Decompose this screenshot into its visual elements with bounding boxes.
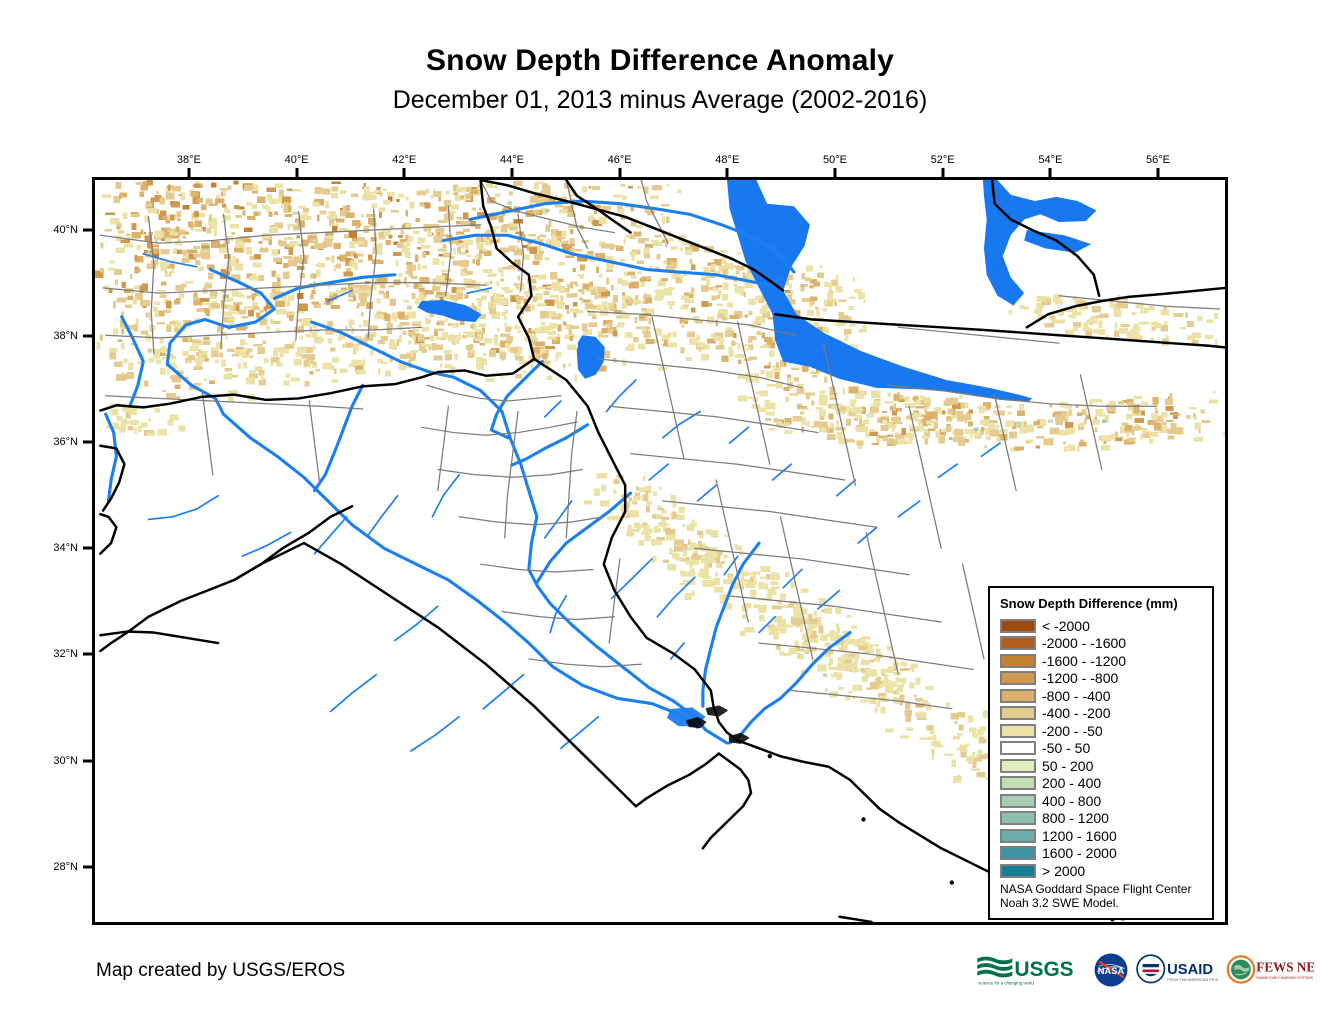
anomaly-cell: [1115, 431, 1118, 437]
anomaly-cell: [501, 377, 503, 379]
anomaly-cell: [1065, 422, 1074, 428]
anomaly-cell: [516, 305, 518, 309]
anomaly-cell: [326, 259, 334, 262]
anomaly-cell: [586, 304, 593, 309]
anomaly-cell: [754, 581, 757, 586]
anomaly-cell: [121, 343, 124, 350]
anomaly-cell: [166, 325, 171, 332]
anomaly-cell: [118, 231, 124, 234]
svg-text:science for a changing world: science for a changing world: [978, 980, 1034, 985]
anomaly-cell: [768, 362, 771, 366]
anomaly-cell: [620, 184, 625, 187]
inland-lake: [526, 603, 537, 616]
anomaly-cell: [672, 512, 676, 519]
anomaly-cell: [493, 336, 497, 342]
anomaly-cell: [507, 349, 510, 352]
anomaly-cell: [643, 248, 649, 255]
anomaly-cell: [208, 273, 214, 280]
anomaly-cell: [476, 363, 484, 369]
anomaly-cell: [903, 678, 907, 684]
anomaly-cell: [966, 744, 970, 746]
anomaly-cell: [582, 283, 589, 289]
anomaly-cell: [559, 262, 565, 266]
anomaly-cell: [154, 302, 159, 305]
anomaly-cell: [1172, 413, 1180, 415]
anomaly-cell: [209, 381, 215, 384]
anomaly-cell: [780, 593, 786, 599]
anomaly-cell: [745, 314, 748, 317]
anomaly-cell: [415, 255, 419, 262]
anomaly-cell: [284, 237, 293, 240]
anomaly-cell: [244, 306, 253, 309]
anomaly-cell: [116, 374, 125, 381]
anomaly-cell: [167, 369, 169, 374]
anomaly-cell: [128, 295, 133, 299]
anomaly-cell: [720, 600, 724, 603]
anomaly-cell: [906, 727, 913, 731]
legend-label: > 2000: [1042, 864, 1085, 878]
anomaly-cell: [225, 368, 232, 372]
anomaly-cell: [355, 223, 362, 225]
anomaly-cell: [1043, 439, 1049, 446]
anomaly-cell: [689, 564, 693, 568]
legend-swatch: [1000, 864, 1036, 878]
anomaly-cell: [851, 625, 856, 628]
anomaly-cell: [736, 252, 741, 254]
anomaly-cell: [958, 712, 965, 717]
anomaly-cell: [795, 612, 799, 618]
anomaly-cell: [661, 213, 664, 216]
anomaly-cell: [876, 438, 881, 443]
anomaly-cell: [193, 383, 201, 386]
anomaly-cell: [551, 314, 558, 316]
anomaly-cell: [949, 398, 958, 405]
anomaly-cell: [978, 749, 983, 755]
anomaly-cell: [662, 217, 665, 224]
legend-row: -800 - -400: [1000, 687, 1206, 705]
anomaly-cell: [630, 510, 639, 517]
anomaly-cell: [658, 367, 667, 371]
anomaly-cell: [110, 409, 118, 416]
anomaly-cell: [541, 322, 545, 326]
anomaly-cell: [721, 355, 728, 362]
anomaly-cell: [815, 306, 819, 308]
anomaly-cell: [628, 283, 637, 289]
anomaly-cell: [686, 557, 689, 561]
anomaly-cell: [133, 324, 138, 331]
anomaly-cell: [178, 194, 181, 196]
anomaly-cell: [957, 774, 960, 780]
anomaly-cell: [927, 725, 934, 730]
anomaly-cell: [827, 434, 835, 440]
anomaly-cell: [820, 266, 823, 268]
legend-credit-line2: Noah 3.2 SWE Model.: [1000, 896, 1191, 910]
anomaly-cell: [963, 414, 972, 420]
anomaly-cell: [916, 406, 926, 408]
anomaly-cell: [948, 408, 953, 414]
anomaly-cell: [1111, 433, 1115, 439]
anomaly-cell: [769, 351, 775, 358]
anomaly-cell: [443, 350, 451, 354]
anomaly-cell: [110, 353, 116, 360]
anomaly-cell: [884, 401, 893, 404]
anomaly-cell: [1000, 429, 1007, 433]
legend-label: 200 - 400: [1042, 776, 1101, 790]
anomaly-cell: [816, 407, 823, 410]
anomaly-cell: [1141, 402, 1148, 405]
anomaly-cell: [532, 304, 535, 310]
anomaly-cell: [826, 426, 829, 432]
anomaly-cell: [709, 303, 712, 307]
anomaly-cell: [1049, 428, 1058, 435]
anomaly-cell: [399, 273, 403, 277]
anomaly-cell: [183, 351, 189, 356]
anomaly-cell: [828, 299, 836, 302]
anomaly-cell: [397, 312, 404, 319]
anomaly-cell: [300, 326, 304, 333]
anomaly-cell: [310, 293, 314, 299]
legend-row: 50 - 200: [1000, 757, 1206, 775]
anomaly-cell: [263, 340, 266, 344]
anomaly-cell: [170, 235, 179, 238]
legend-label: 800 - 1200: [1042, 811, 1109, 825]
anomaly-cell: [606, 277, 609, 284]
anomaly-cell: [284, 214, 292, 217]
anomaly-cell: [668, 287, 675, 290]
anomaly-cell: [360, 296, 367, 303]
anomaly-cell: [954, 721, 957, 724]
anomaly-cell: [289, 296, 293, 301]
anomaly-cell: [187, 361, 191, 364]
anomaly-cell: [785, 397, 788, 402]
legend-items: < -2000-2000 - -1600-1600 - -1200-1200 -…: [1000, 617, 1206, 880]
anomaly-cell: [1009, 432, 1017, 439]
anomaly-cell: [332, 182, 341, 184]
anomaly-cell: [582, 324, 588, 331]
longitude-tick-mark: [1157, 168, 1160, 177]
anomaly-cell: [1055, 319, 1064, 323]
anomaly-cell: [193, 366, 203, 370]
anomaly-cell: [168, 184, 171, 191]
anomaly-cell: [893, 395, 899, 401]
anomaly-cell: [159, 294, 166, 298]
anomaly-cell: [360, 285, 368, 290]
anomaly-cell: [809, 619, 818, 624]
anomaly-cell: [193, 339, 201, 343]
anomaly-cell: [548, 331, 556, 335]
anomaly-cell: [456, 221, 460, 225]
anomaly-cell: [464, 294, 468, 298]
anomaly-cell: [504, 317, 507, 320]
anomaly-cell: [565, 305, 569, 309]
anomaly-cell: [836, 286, 843, 293]
anomaly-cell: [947, 426, 951, 430]
anomaly-cell: [662, 525, 665, 532]
anomaly-cell: [567, 310, 570, 314]
anomaly-cell: [721, 561, 725, 564]
anomaly-cell: [838, 659, 845, 662]
anomaly-cell: [846, 439, 855, 442]
anomaly-cell: [234, 205, 239, 209]
anomaly-cell: [1133, 407, 1139, 414]
anomaly-cell: [191, 191, 199, 197]
anomaly-cell: [312, 345, 315, 350]
anomaly-cell: [426, 188, 430, 194]
anomaly-cell: [584, 500, 592, 504]
anomaly-cell: [187, 250, 197, 253]
anomaly-cell: [165, 274, 172, 277]
anomaly-cell: [310, 239, 318, 243]
page-title: Snow Depth Difference Anomaly: [0, 44, 1320, 78]
anomaly-cell: [209, 297, 216, 299]
anomaly-cell: [1166, 406, 1174, 411]
anomaly-cell: [167, 419, 173, 425]
anomaly-cell: [749, 336, 757, 340]
anomaly-cell: [884, 695, 887, 702]
anomaly-cell: [738, 360, 741, 364]
gulf-island: [950, 880, 954, 884]
anomaly-cell: [109, 348, 118, 352]
anomaly-cell: [882, 411, 887, 413]
anomaly-cell: [1025, 425, 1034, 433]
anomaly-cell-positive: [973, 427, 978, 431]
legend-swatch: [1000, 846, 1036, 860]
anomaly-cell: [264, 358, 269, 363]
anomaly-cell: [516, 296, 524, 300]
anomaly-cell: [174, 248, 177, 254]
anomaly-cell: [621, 311, 625, 318]
anomaly-cell: [1141, 434, 1143, 440]
anomaly-cell: [1115, 437, 1122, 440]
anomaly-cell: [127, 372, 134, 379]
anomaly-cell: [1209, 400, 1218, 404]
anomaly-cell: [545, 225, 549, 232]
legend-swatch: [1000, 706, 1036, 720]
anomaly-cell: [463, 198, 471, 201]
anomaly-cell: [122, 213, 127, 219]
anomaly-cell: [286, 300, 290, 306]
anomaly-cell: [848, 306, 854, 310]
anomaly-cell: [354, 253, 358, 258]
anomaly-cell: [463, 229, 470, 232]
anomaly-cell: [638, 344, 646, 350]
anomaly-cell: [701, 354, 709, 361]
anomaly-cell: [736, 271, 740, 274]
anomaly-cell: [438, 248, 446, 251]
anomaly-cell: [855, 426, 864, 431]
anomaly-cell: [483, 353, 486, 356]
anomaly-cell: [517, 330, 520, 333]
anomaly-cell: [399, 335, 402, 342]
anomaly-cell: [334, 369, 336, 374]
anomaly-cell: [1093, 329, 1098, 334]
anomaly-cell: [905, 403, 915, 407]
anomaly-cell: [630, 529, 639, 532]
anomaly-cell: [685, 250, 692, 255]
anomaly-cell: [1044, 323, 1054, 327]
anomaly-cell: [696, 335, 699, 340]
anomaly-cell: [881, 425, 889, 431]
anomaly-cell: [672, 553, 679, 559]
anomaly-cell: [215, 198, 225, 203]
anomaly-cell: [645, 339, 654, 344]
anomaly-cell: [283, 256, 292, 259]
anomaly-cell: [654, 526, 658, 533]
anomaly-cell: [785, 572, 789, 577]
anomaly-cell: [361, 312, 364, 316]
anomaly-cell: [765, 418, 771, 421]
anomaly-cell: [895, 689, 903, 692]
anomaly-cell: [645, 298, 652, 303]
anomaly-cell: [349, 232, 357, 238]
anomaly-cell: [283, 272, 290, 279]
anomaly-cell: [447, 211, 456, 214]
anomaly-cell: [146, 433, 155, 436]
anomaly-cell: [458, 241, 463, 244]
anomaly-cell: [814, 611, 817, 617]
anomaly-cell: [267, 326, 270, 330]
anomaly-cell: [661, 278, 668, 281]
anomaly-cell: [291, 378, 300, 382]
anomaly-cell: [814, 424, 820, 426]
anomaly-cell: [866, 669, 871, 676]
anomaly-cell: [177, 218, 181, 221]
anomaly-cell: [659, 487, 662, 490]
anomaly-cell: [470, 325, 474, 329]
anomaly-cell: [900, 395, 903, 400]
anomaly-cell: [649, 318, 651, 325]
anomaly-cell: [892, 410, 897, 416]
anomaly-cell: [711, 530, 718, 538]
anomaly-cell: [254, 254, 261, 259]
anomaly-cell: [993, 410, 996, 414]
anomaly-cell: [332, 357, 339, 362]
anomaly-cell: [905, 396, 910, 401]
anomaly-cell: [434, 191, 442, 197]
anomaly-cell: [424, 202, 430, 208]
anomaly-cell: [421, 327, 429, 332]
anomaly-cell: [692, 591, 695, 596]
anomaly-cell: [880, 669, 887, 674]
anomaly-cell: [565, 255, 574, 258]
longitude-tick-label: 50°E: [823, 154, 847, 166]
anomaly-cell: [379, 232, 384, 238]
anomaly-cell: [759, 615, 765, 622]
anomaly-cell: [753, 574, 756, 581]
anomaly-cell: [316, 369, 320, 372]
anomaly-cell: [887, 435, 894, 438]
anomaly-cell: [1084, 407, 1087, 411]
anomaly-cell: [250, 356, 253, 359]
anomaly-cell: [1063, 441, 1066, 444]
anomaly-cell: [573, 302, 578, 307]
anomaly-cell: [562, 230, 567, 237]
anomaly-cell: [1118, 401, 1124, 404]
anomaly-cell: [1114, 323, 1117, 330]
anomaly-cell: [476, 357, 483, 363]
anomaly-cell: [388, 285, 394, 287]
anomaly-cell: [566, 289, 570, 293]
anomaly-cell: [495, 193, 500, 196]
anomaly-cell: [128, 426, 134, 430]
anomaly-cell: [236, 304, 240, 311]
anomaly-cell: [800, 287, 804, 291]
anomaly-cell: [810, 296, 817, 301]
anomaly-cell: [1017, 411, 1025, 416]
anomaly-cell: [627, 502, 630, 509]
anomaly-cell: [174, 300, 180, 305]
anomaly-cell: [413, 329, 419, 332]
anomaly-cell: [654, 235, 661, 237]
anomaly-cell: [397, 325, 402, 328]
legend-label: -50 - 50: [1042, 741, 1090, 755]
anomaly-cell: [314, 336, 323, 343]
anomaly-cell: [1026, 440, 1029, 443]
anomaly-cell: [419, 334, 424, 341]
anomaly-cell: [200, 185, 202, 188]
anomaly-cell: [405, 197, 408, 201]
anomaly-cell: [246, 351, 249, 355]
anomaly-cell: [900, 736, 909, 739]
anomaly-cell: [958, 724, 963, 730]
anomaly-cell: [1149, 432, 1159, 437]
anomaly-cell: [268, 211, 272, 217]
anomaly-cell: [589, 186, 591, 188]
anomaly-cell: [764, 366, 771, 369]
legend-title: Snow Depth Difference (mm): [1000, 596, 1178, 611]
anomaly-cell: [408, 341, 411, 345]
anomaly-cell: [135, 255, 138, 260]
anomaly-cell: [246, 247, 252, 254]
legend-row: -2000 - -1600: [1000, 635, 1206, 653]
anomaly-cell: [556, 305, 563, 309]
anomaly-cell: [1087, 320, 1095, 324]
anomaly-cell: [472, 207, 476, 210]
anomaly-cell: [661, 204, 669, 207]
anomaly-cell: [1132, 430, 1135, 435]
anomaly-cell: [310, 273, 313, 278]
anomaly-cell: [166, 301, 171, 308]
anomaly-cell: [822, 308, 827, 311]
latitude-tick-label: 38°N: [30, 330, 78, 342]
legend-row: 400 - 800: [1000, 792, 1206, 810]
anomaly-cell: [398, 235, 403, 238]
anomaly-cell: [772, 626, 774, 629]
anomaly-cell: [859, 418, 862, 425]
anomaly-cell: [817, 272, 824, 278]
latitude-tick-label: 32°N: [30, 648, 78, 660]
anomaly-cell: [285, 344, 294, 349]
anomaly-cell: [853, 685, 863, 691]
legend-label: 400 - 800: [1042, 794, 1101, 808]
anomaly-cell: [653, 491, 657, 495]
anomaly-cell: [581, 301, 583, 304]
latitude-tick-label: 28°N: [30, 861, 78, 873]
anomaly-cell: [909, 667, 913, 670]
anomaly-cell: [294, 359, 302, 366]
svg-text:NASA: NASA: [1098, 966, 1125, 976]
anomaly-cell: [1055, 414, 1065, 421]
anomaly-cell: [203, 341, 211, 345]
anomaly-cell: [336, 264, 341, 269]
anomaly-cell: [871, 443, 879, 445]
anomaly-cell: [919, 711, 926, 718]
anomaly-cell: [475, 337, 484, 341]
anomaly-cell: [743, 292, 746, 297]
anomaly-cell: [829, 667, 839, 670]
anomaly-cell: [931, 412, 938, 419]
anomaly-cell: [625, 332, 633, 338]
